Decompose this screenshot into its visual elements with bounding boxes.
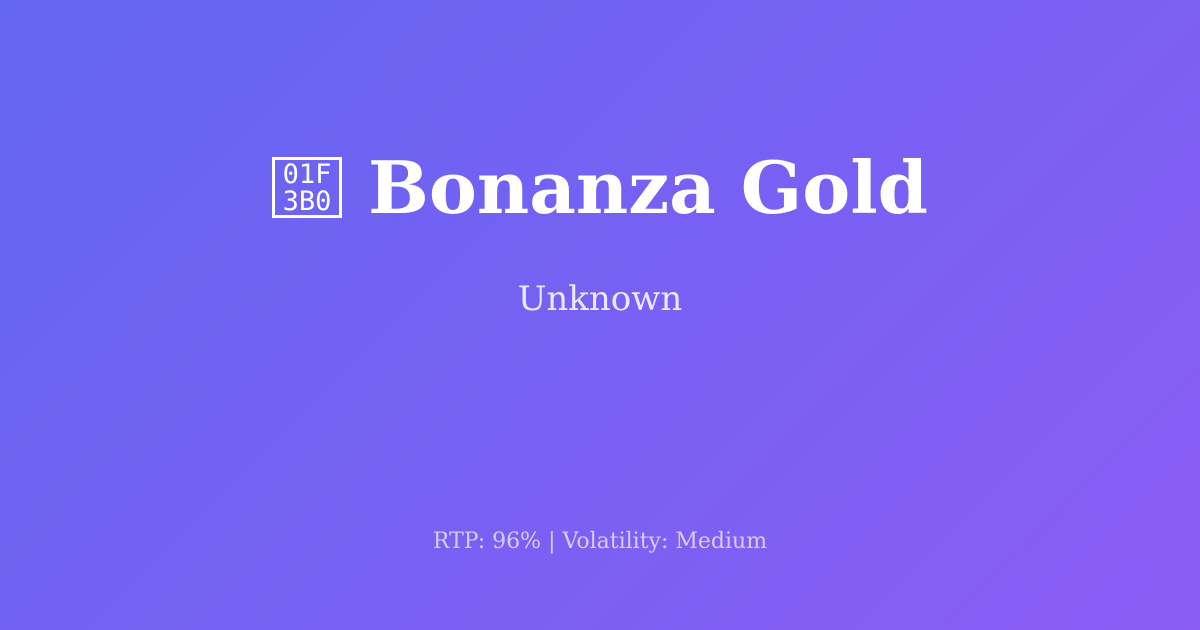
card-footer: RTP: 96% | Volatility: Medium <box>0 528 1200 556</box>
game-stats-line: RTP: 96% | Volatility: Medium <box>0 528 1200 556</box>
slot-machine-emoji-icon: 01F 3B0 <box>272 157 342 218</box>
game-title: Bonanza Gold <box>368 150 928 226</box>
tofu-codepoint-bottom: 3B0 <box>283 188 332 215</box>
open-graph-game-card: 01F 3B0 Bonanza Gold Unknown RTP: 96% | … <box>0 0 1200 630</box>
title-row: 01F 3B0 Bonanza Gold <box>60 150 1140 226</box>
tofu-codepoint-top: 01F <box>283 161 332 188</box>
game-provider-subtitle: Unknown <box>518 279 683 320</box>
card-hero: 01F 3B0 Bonanza Gold Unknown <box>0 0 1200 470</box>
